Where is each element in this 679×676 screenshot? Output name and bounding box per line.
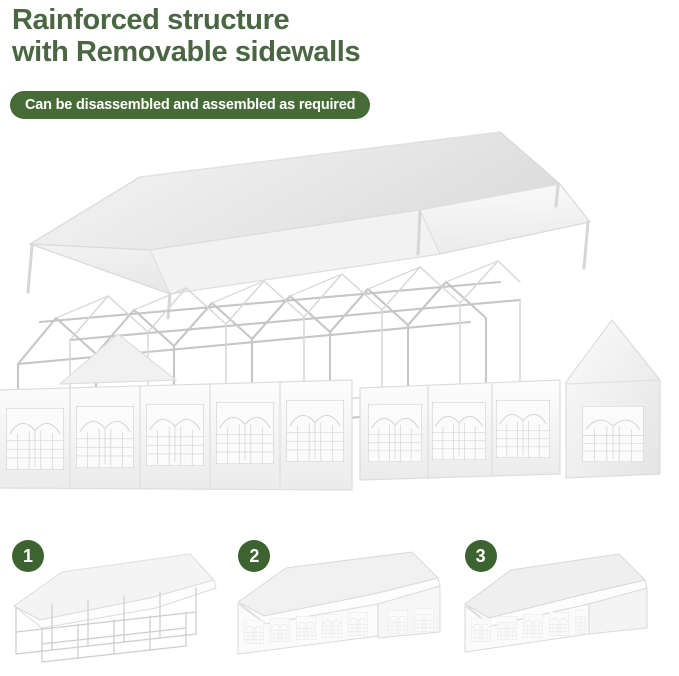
gable-end-panel [566,320,660,478]
status-badge: Can be disassembled and assembled as req… [10,91,370,119]
page-title: Rainforced structure with Removable side… [0,0,679,69]
header: Rainforced structure with Removable side… [0,0,679,69]
sidewall-window-group-right [368,400,550,462]
step-fully-assembled: 3 [453,528,679,676]
sidewall-window-group-left [6,400,344,470]
assembly-steps: 1 2 [0,528,679,676]
step-sidewalls-attached: 2 [226,528,452,676]
step-number-badge: 1 [12,540,44,572]
step-number-badge: 3 [465,540,497,572]
status-badge-label: Can be disassembled and assembled as req… [25,97,355,113]
step-frame-and-roof: 1 [0,528,226,676]
sidewall-panels-left [0,334,352,490]
sidewall-panels-right [360,380,560,480]
roof-canopy-part [28,132,590,318]
exploded-tent-diagram [0,122,679,514]
